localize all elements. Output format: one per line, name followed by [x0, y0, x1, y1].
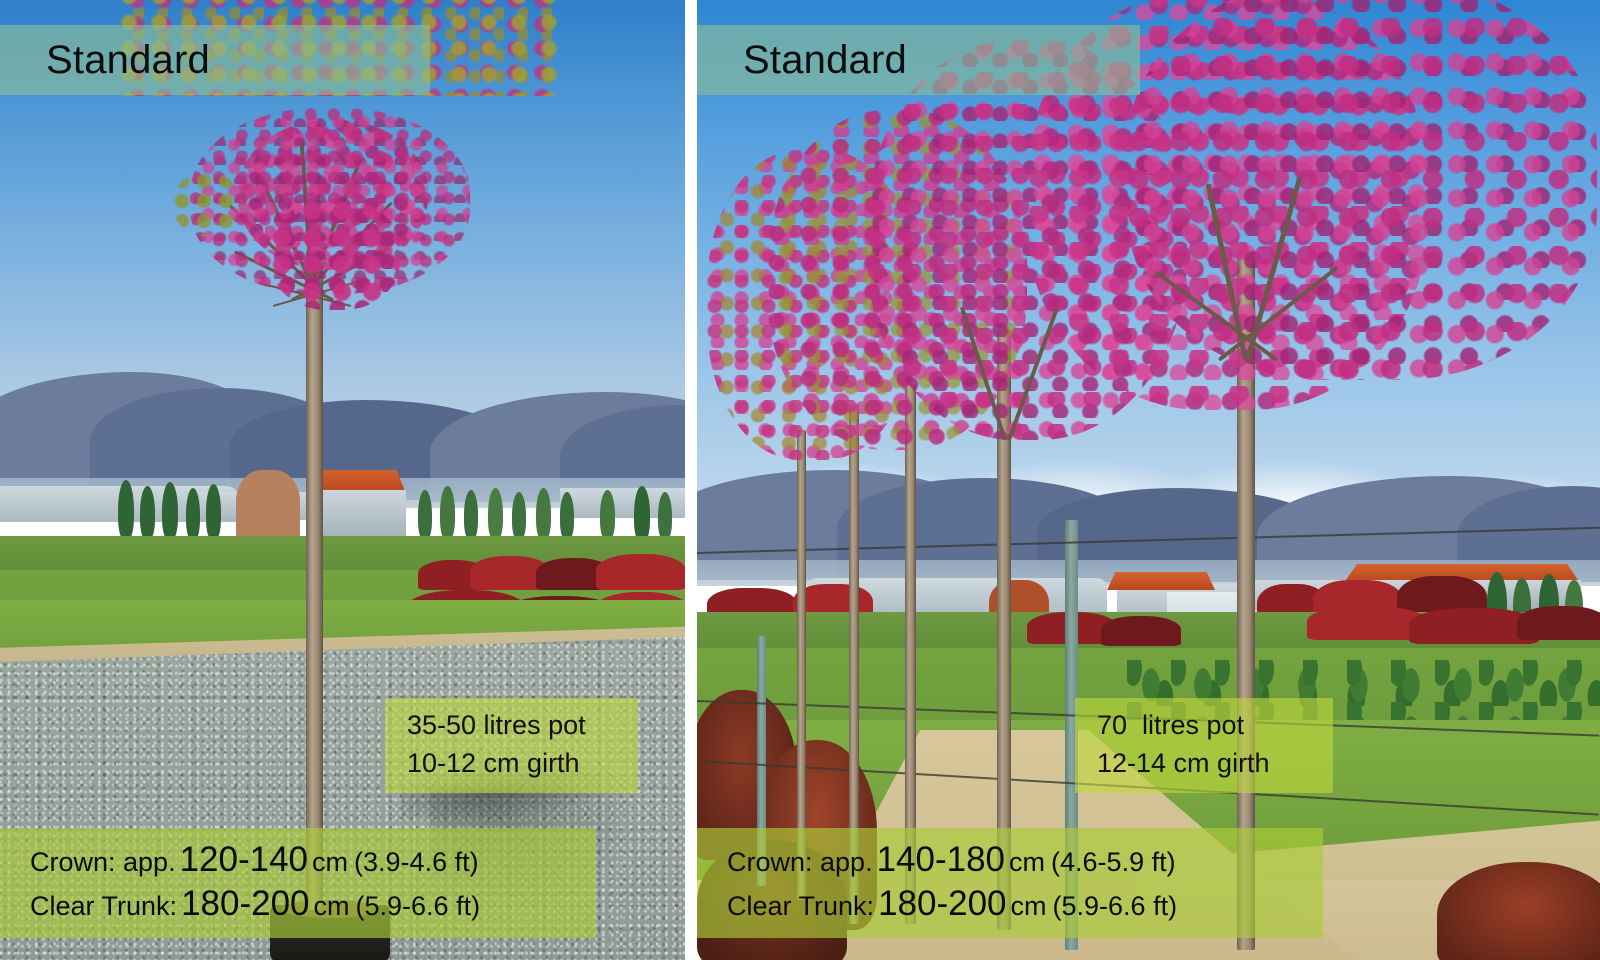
spec-box-left: Crown: app. 120-140 cm (3.9-4.6 ft) Clea… [0, 828, 596, 938]
spec-imperial-trunk-right: (5.9-6.6 ft) [1047, 889, 1178, 923]
banner-label-right: Standard [697, 38, 907, 83]
pot-box-right: 70 litres pot 12-14 cm girth [1075, 698, 1333, 793]
panel-left-standard: Standard 35-50 litres pot 10-12 cm girth… [0, 0, 685, 960]
panel-right-standard: Standard 70 litres pot 12-14 cm girth Cr… [697, 0, 1600, 960]
pot-box-left: 35-50 litres pot 10-12 cm girth [385, 698, 638, 793]
spec-row-crown-right: Crown: app. 140-180 cm (4.6-5.9 ft) [727, 838, 1305, 882]
spec-row-crown-left: Crown: app. 120-140 cm (3.9-4.6 ft) [30, 838, 578, 882]
spec-unit-crown-left: cm [312, 845, 348, 879]
spec-box-right: Crown: app. 140-180 cm (4.6-5.9 ft) Clea… [697, 828, 1323, 938]
spec-label-crown-right: Crown: app. [727, 845, 873, 879]
spec-imperial-trunk-left: (5.9-6.6 ft) [350, 889, 481, 923]
pot-box-right-line2: 12-14 cm girth [1097, 744, 1317, 782]
spec-imperial-crown-right: (4.6-5.9 ft) [1045, 845, 1176, 879]
spec-label-trunk-left: Clear Trunk: [30, 889, 177, 923]
comparison-board: Standard 35-50 litres pot 10-12 cm girth… [0, 0, 1600, 960]
spec-row-trunk-right: Clear Trunk: 180-200 cm (5.9-6.6 ft) [727, 882, 1305, 926]
tree-trunk-left [306, 250, 323, 910]
spec-value-trunk-left: 180-200 [177, 882, 313, 926]
spec-unit-trunk-left: cm [314, 889, 350, 923]
spec-value-trunk-right: 180-200 [874, 882, 1010, 926]
spec-row-trunk-left: Clear Trunk: 180-200 cm (5.9-6.6 ft) [30, 882, 578, 926]
spec-value-crown-left: 120-140 [176, 838, 312, 882]
spec-unit-crown-right: cm [1009, 845, 1045, 879]
banner-label-left: Standard [0, 38, 210, 83]
spec-label-crown-left: Crown: app. [30, 845, 176, 879]
banner-right: Standard [697, 25, 1140, 95]
spec-unit-trunk-right: cm [1011, 889, 1047, 923]
banner-left: Standard [0, 25, 430, 95]
spec-value-crown-right: 140-180 [873, 838, 1009, 882]
spec-label-trunk-right: Clear Trunk: [727, 889, 874, 923]
pot-box-left-line2: 10-12 cm girth [407, 744, 622, 782]
pot-box-left-line1: 35-50 litres pot [407, 706, 622, 744]
pot-box-right-line1: 70 litres pot [1097, 706, 1317, 744]
spec-imperial-crown-left: (3.9-4.6 ft) [348, 845, 479, 879]
